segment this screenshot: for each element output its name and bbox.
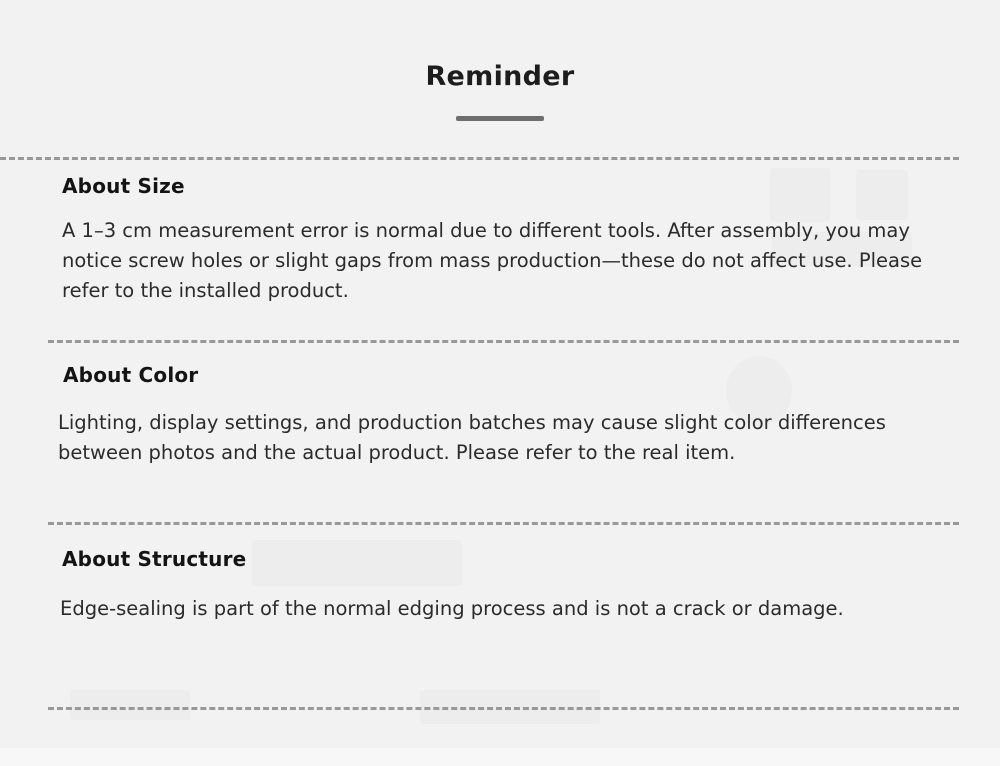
section-divider-top — [0, 157, 959, 160]
section-about-size: About Size A 1–3 cm measurement error is… — [62, 174, 952, 305]
section-about-color-body: Lighting, display settings, and producti… — [58, 408, 928, 468]
section-about-size-heading: About Size — [62, 174, 952, 198]
section-about-structure-heading: About Structure — [62, 547, 942, 571]
section-divider-bottom — [48, 707, 959, 710]
section-divider-size-color — [48, 340, 959, 343]
title-block: Reminder — [0, 62, 1000, 121]
page-title: Reminder — [0, 62, 1000, 92]
reminder-page: Reminder About Size A 1–3 cm measurement… — [0, 0, 1000, 766]
section-about-structure-body: Edge-sealing is part of the normal edgin… — [60, 594, 900, 624]
section-about-color: About Color Lighting, display settings, … — [63, 363, 943, 468]
title-underline-rule — [456, 116, 544, 121]
section-divider-color-structure — [48, 522, 959, 525]
section-about-color-heading: About Color — [63, 363, 943, 387]
section-about-structure: About Structure Edge-sealing is part of … — [62, 547, 942, 624]
section-about-size-body: A 1–3 cm measurement error is normal due… — [62, 216, 948, 305]
